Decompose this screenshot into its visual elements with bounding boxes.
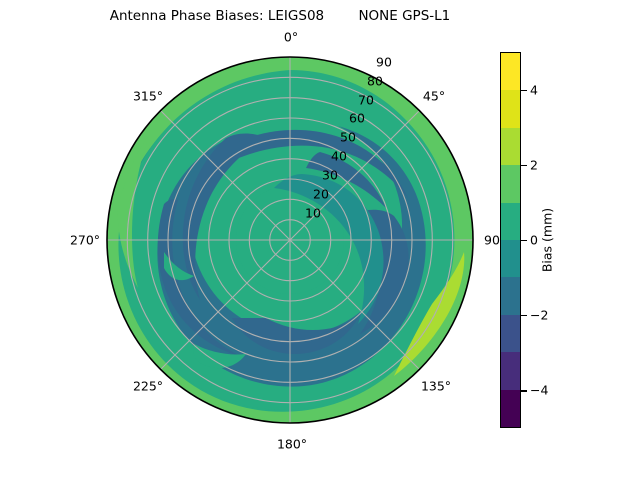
angular-tick-45: 45° [423,89,445,104]
radial-tick-50: 50 [340,130,356,145]
colorbar-band-2 [501,315,520,352]
angular-tick-270: 270° [70,233,100,248]
angular-tick-0: 0° [284,30,298,45]
colorbar-band-8 [501,90,520,127]
angular-tick-225: 225° [133,379,163,394]
colorbar-band-9 [501,53,520,90]
radial-tick-20: 20 [313,187,329,202]
colorbar-ticklabel-0: 0 [530,233,538,248]
colorbar-ticklabel-2: 2 [530,158,538,173]
colorbar-tick-m4 [521,390,527,391]
angular-tick-135: 135° [421,379,451,394]
angular-tick-90: 90 [484,233,500,248]
colorbar-ticklabel-4: 4 [530,82,538,97]
colorbar-ticklabel-m2: −2 [530,307,548,322]
polar-contour-plot [106,56,474,424]
colorbar-ticklabel-m4: −4 [530,383,548,398]
radial-tick-90: 90 [376,55,392,70]
colorbar-tick-0 [521,240,527,241]
matplotlib-figure: Antenna Phase Biases: LEIGS08 NONE GPS-L… [0,0,640,480]
colorbar-tick-2 [521,165,527,166]
colorbar-band-6 [501,165,520,202]
colorbar-band-0 [501,390,520,427]
angular-gridlines [107,57,473,423]
colorbar[interactable] [500,52,521,428]
colorbar-band-1 [501,352,520,389]
angular-tick-180: 180° [277,437,307,452]
colorbar-band-4 [501,240,520,277]
colorbar-band-7 [501,128,520,165]
radial-tick-70: 70 [358,93,374,108]
plot-title: Antenna Phase Biases: LEIGS08 NONE GPS-L… [0,8,560,24]
radial-tick-10: 10 [305,206,321,221]
radial-tick-40: 40 [331,149,347,164]
angular-tick-315: 315° [133,89,163,104]
polar-axes [106,56,474,424]
colorbar-tick-m2 [521,315,527,316]
radial-tick-60: 60 [349,111,365,126]
radial-tick-30: 30 [322,168,338,183]
colorbar-tick-4 [521,90,527,91]
colorbar-band-3 [501,277,520,314]
radial-tick-80: 80 [367,74,383,89]
colorbar-band-5 [501,203,520,240]
colorbar-axis-label: Bias (mm) [540,208,555,272]
